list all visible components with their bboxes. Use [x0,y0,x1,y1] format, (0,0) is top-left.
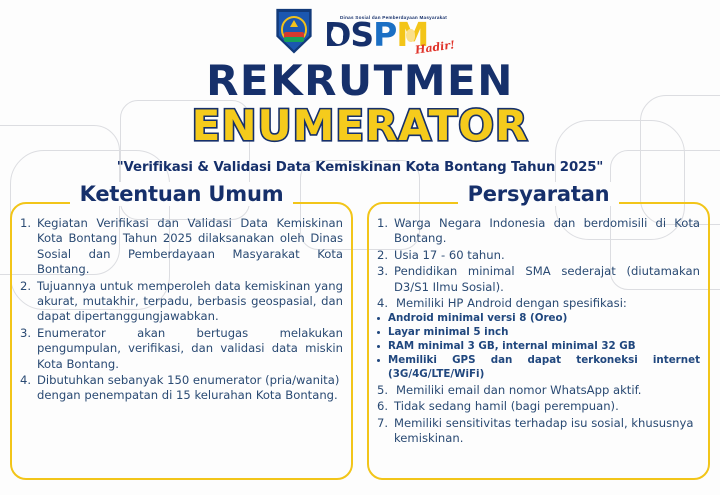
content-columns: Ketentuan Umum Kegiatan Verifikasi dan V… [0,191,720,480]
ketentuan-umum-list: Kegiatan Verifikasi dan Validasi Data Ke… [18,216,343,404]
ketentuan-umum-heading: Ketentuan Umum [12,182,351,206]
spec-item: RAM minimal 3 GB, internal minimal 32 GB [375,340,700,354]
poster-subtitle-quote: "Verifikasi & Validasi Data Kemiskinan K… [0,160,720,175]
left-column: Ketentuan Umum Kegiatan Verifikasi dan V… [10,191,353,480]
list-item: Dibutuhkan sebanyak 150 enumerator (pria… [18,373,343,404]
persyaratan-list: Warga Negara Indonesia dan berdomisili d… [375,216,700,311]
spec-item: Layar minimal 5 inch [375,326,700,340]
list-item: Tidak sedang hamil (bagi perempuan). [375,399,700,414]
list-item: Enumerator akan bertugas melakukan pengu… [18,326,343,372]
spec-item: Memiliki GPS dan dapat terkoneksi intern… [375,354,700,382]
right-column: Persyaratan Warga Negara Indonesia dan b… [367,191,710,480]
persyaratan-list-cont: Memiliki email dan nomor WhatsApp aktif.… [375,383,700,447]
list-item-text: Memiliki HP Android dengan spesifikasi: [396,296,627,310]
poster-title-line2: ENUMERATOR [0,105,720,147]
list-item: Memiliki sensitivitas terhadap isu sosia… [375,416,700,447]
list-item: Memiliki email dan nomor WhatsApp aktif. [375,383,700,398]
list-item: Kegiatan Verifikasi dan Validasi Data Ke… [18,216,343,278]
dspm-logo: Dinas Sosial dan Pemberdayaan Masyarakat… [324,13,447,48]
persyaratan-panel: Persyaratan Warga Negara Indonesia dan b… [367,202,710,480]
list-item: Tujuannya untuk memperoleh data kemiskin… [18,279,343,325]
dspm-letter-d: D [324,21,350,48]
dspm-letter-s: S [350,21,373,48]
dspm-letter-p: P [373,21,396,48]
poster-header: Dinas Sosial dan Pemberdayaan Masyarakat… [0,0,720,62]
recruitment-poster: Dinas Sosial dan Pemberdayaan Masyarakat… [0,0,720,495]
ketentuan-umum-panel: Ketentuan Umum Kegiatan Verifikasi dan V… [10,202,353,480]
spec-item: Android minimal versi 8 (Oreo) [375,312,700,326]
list-item: Pendidikan minimal SMA sederajat (diutam… [375,264,700,295]
list-item: Warga Negara Indonesia dan berdomisili d… [375,216,700,247]
persyaratan-heading: Persyaratan [369,182,708,206]
android-spec-list: Android minimal versi 8 (Oreo) Layar min… [375,312,700,381]
city-crest-icon [273,8,315,54]
poster-title-line1: REKRUTMEN [0,60,720,102]
list-item: Memiliki HP Android dengan spesifikasi: [375,296,700,311]
list-item: Usia 17 - 60 tahun. [375,248,700,263]
